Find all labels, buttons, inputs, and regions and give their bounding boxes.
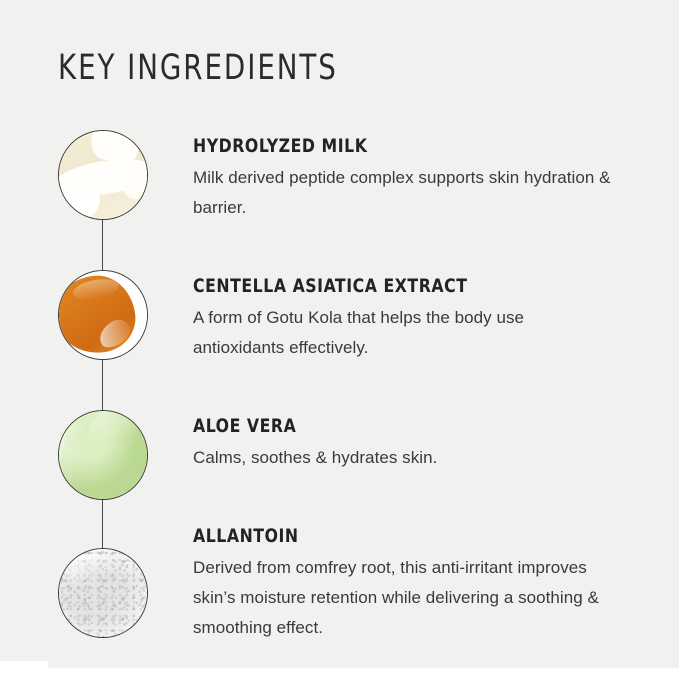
ingredients-list: HYDROLYZED MILK Milk derived peptide com…: [0, 0, 679, 661]
centella-extract-swatch: [58, 270, 148, 360]
connector-line-1: [102, 220, 103, 270]
ingredient-text-block: ALOE VERA Calms, soothes & hydrates skin…: [193, 415, 613, 473]
ingredient-name: HYDROLYZED MILK: [193, 135, 579, 157]
ingredients-infographic: KEY INGREDIENTS HYDROLYZED MILK Milk der…: [0, 0, 679, 679]
ingredient-description: A form of Gotu Kola that helps the body …: [193, 303, 613, 363]
allantoin-powder-fill: [59, 549, 147, 637]
connector-line-2: [102, 360, 103, 410]
bottom-strip-tint: [48, 661, 679, 668]
aloe-gel-swatch: [58, 410, 148, 500]
ingredient-name: ALLANTOIN: [193, 525, 579, 547]
aloe-gel-fill: [59, 411, 147, 499]
ingredient-text-block: CENTELLA ASIATICA EXTRACT A form of Gotu…: [193, 275, 613, 363]
allantoin-powder-swatch: [58, 548, 148, 638]
ingredient-name: CENTELLA ASIATICA EXTRACT: [193, 275, 579, 297]
ingredient-text-block: ALLANTOIN Derived from comfrey root, thi…: [193, 525, 613, 643]
ingredient-text-block: HYDROLYZED MILK Milk derived peptide com…: [193, 135, 613, 223]
milk-texture-fill: [59, 131, 147, 219]
ingredient-description: Milk derived peptide complex supports sk…: [193, 163, 613, 223]
ingredient-name: ALOE VERA: [193, 415, 579, 437]
milk-texture-swatch: [58, 130, 148, 220]
ingredient-description: Calms, soothes & hydrates skin.: [193, 443, 613, 473]
connector-line-3: [102, 500, 103, 550]
centella-extract-fill: [59, 271, 147, 359]
ingredient-description: Derived from comfrey root, this anti-irr…: [193, 553, 613, 643]
